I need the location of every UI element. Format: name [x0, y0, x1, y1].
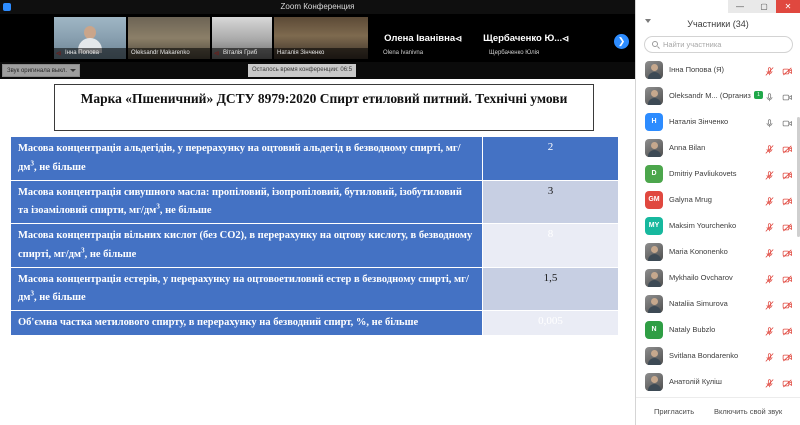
participant-name: Oleksandr M... (Организатор) — [669, 83, 751, 109]
specification-table: Масова концентрація альдегідів, у перера… — [10, 136, 619, 336]
window-title: Zoom Конференция — [281, 2, 355, 11]
participant-row[interactable]: Mykhailo Ovcharov — [636, 265, 800, 291]
original-audio-label: Звук оригинала выкл. — [7, 68, 67, 74]
mic-muted-icon[interactable] — [764, 272, 775, 283]
original-audio-button[interactable]: Звук оригинала выкл. — [2, 64, 80, 77]
table-cell-value: 2 — [483, 137, 619, 181]
participant-name: Наталія Зінченко — [669, 109, 728, 135]
avatar — [645, 61, 663, 79]
table-cell-parameter: Масова концентрація альдегідів, у перера… — [11, 137, 483, 181]
window-controls: — ▢ ✕ — [728, 0, 800, 13]
table-row: Масова концентрація альдегідів, у перера… — [11, 137, 619, 181]
participants-list[interactable]: Інна Попова (Я)Oleksandr M... (Организат… — [636, 57, 800, 395]
participant-row[interactable]: MYMaksim Yourchenko — [636, 213, 800, 239]
camera-icon[interactable] — [782, 116, 793, 127]
mic-muted-icon[interactable] — [764, 350, 775, 361]
avatar — [645, 373, 663, 391]
video-tile-label: Інна Попова — [54, 48, 126, 59]
chevron-down-icon — [70, 69, 76, 72]
invite-button[interactable]: Пригласить — [654, 404, 694, 420]
participant-row[interactable]: Svitlana Bondarenko — [636, 343, 800, 369]
participant-search[interactable] — [644, 36, 793, 53]
participant-name: Dmitriy Pavliukovets — [669, 161, 737, 187]
participant-name: Анатолій Кулiш — [669, 369, 722, 395]
video-tile-label: Щербаченко Юлія — [478, 48, 574, 59]
participant-name: Anna Bilan — [669, 135, 705, 161]
zoom-logo-icon — [3, 3, 11, 11]
next-page-icon[interactable]: ❯ — [614, 34, 629, 49]
table-row: Масова концентрація вільних кислот (без … — [11, 224, 619, 268]
participant-row[interactable]: GMGalyna Mrug — [636, 187, 800, 213]
camera-off-icon[interactable] — [782, 298, 793, 309]
mic-muted-icon[interactable] — [764, 194, 775, 205]
camera-off-icon[interactable] — [782, 376, 793, 387]
camera-icon[interactable] — [782, 90, 793, 101]
participant-row[interactable]: Oleksandr M... (Организатор)1 — [636, 83, 800, 109]
avatar — [645, 269, 663, 287]
participant-row[interactable]: Інна Попова (Я) — [636, 57, 800, 83]
slide-title: Марка «Пшеничний» ДСТУ 8979:2020 Спирт е… — [54, 84, 594, 131]
participant-name: Svitlana Bondarenko — [669, 343, 738, 369]
avatar — [645, 295, 663, 313]
video-tile-label: Віталія Гриб — [212, 48, 272, 59]
mic-muted-icon: ⏿ — [455, 33, 462, 44]
mic-muted-icon: ⏿ — [562, 33, 569, 44]
camera-off-icon[interactable] — [782, 168, 793, 179]
mic-icon[interactable] — [764, 116, 775, 127]
mic-muted-icon[interactable] — [764, 324, 775, 335]
table-cell-value: 3 — [483, 180, 619, 224]
video-tile-shcherbachenko[interactable]: Щербаченко Ю... ⏿ Щербаченко Юлія — [478, 17, 574, 59]
avatar — [645, 139, 663, 157]
participant-row[interactable]: Nataliia Simurova — [636, 291, 800, 317]
table-cell-value: 0,005 — [483, 311, 619, 336]
video-tile-label: Olena Ivanivna — [372, 48, 474, 59]
camera-off-icon[interactable] — [782, 272, 793, 283]
camera-off-icon[interactable] — [782, 194, 793, 205]
table-cell-parameter: Масова концентрація естерів, у перерахун… — [11, 267, 483, 311]
share-toolbar: Звук оригинала выкл. Осталось время конф… — [0, 62, 635, 79]
video-tile-display-name: Олена Іванівна — [384, 33, 455, 44]
avatar-initials: GM — [645, 191, 663, 209]
camera-off-icon[interactable] — [782, 64, 793, 75]
participant-name: Інна Попова (Я) — [669, 57, 724, 83]
table-row: Масова концентрація естерів, у перерахун… — [11, 267, 619, 311]
table-row: Масова концентрація сивушного масла: про… — [11, 180, 619, 224]
avatar-initials: D — [645, 165, 663, 183]
camera-off-icon[interactable] — [782, 220, 793, 231]
avatar — [645, 347, 663, 365]
camera-off-icon[interactable] — [782, 142, 793, 153]
participants-footer: Пригласить Включить свой звук — [636, 397, 800, 425]
avatar-initials: N — [645, 321, 663, 339]
camera-off-icon[interactable] — [782, 324, 793, 335]
meeting-timer: Осталось время конференции: 06:5 — [248, 64, 356, 77]
table-cell-parameter: Масова концентрація сивушного масла: про… — [11, 180, 483, 224]
shared-screen-content: Марка «Пшеничний» ДСТУ 8979:2020 Спирт е… — [0, 79, 635, 425]
mic-muted-icon[interactable] — [764, 298, 775, 309]
zoom-meeting-window: Zoom Конференция ⏿ Інна Попова Oleksandr… — [0, 0, 800, 425]
table-cell-parameter: Масова концентрація вільних кислот (без … — [11, 224, 483, 268]
participant-row[interactable]: Anna Bilan — [636, 135, 800, 161]
search-input[interactable] — [663, 37, 789, 52]
participant-name: Mykhailo Ovcharov — [669, 265, 733, 291]
camera-off-icon[interactable] — [782, 350, 793, 361]
participant-name: Maria Kononenko — [669, 239, 728, 265]
participant-row[interactable]: ННаталія Зінченко — [636, 109, 800, 135]
mic-muted-icon[interactable] — [764, 168, 775, 179]
participant-row[interactable]: Анатолій Кулiш — [636, 369, 800, 395]
host-badge-icon: 1 — [754, 91, 763, 99]
video-tile-inna-popova[interactable]: ⏿ Інна Попова — [54, 17, 126, 59]
participant-row[interactable]: NNataly Bubzlo — [636, 317, 800, 343]
unmute-button[interactable]: Включить свой звук — [714, 404, 782, 420]
video-tile-oleksandr-makarenko[interactable]: Oleksandr Makarenko — [128, 17, 210, 59]
avatar — [645, 87, 663, 105]
video-tile-olena-ivanivna[interactable]: Олена Іванівна ⏿ Olena Ivanivna — [372, 17, 474, 59]
mic-icon[interactable] — [764, 90, 775, 101]
video-tile-display-name: Щербаченко Ю... — [483, 33, 562, 44]
participants-header: Участники (34) — [636, 14, 800, 34]
video-tile-label: Наталія Зінченко — [274, 48, 368, 59]
table-cell-value: 8 — [483, 224, 619, 268]
video-tile-vitaliia-hryb[interactable]: ⏿ Віталія Гриб — [212, 17, 272, 59]
participant-name: Nataly Bubzlo — [669, 317, 715, 343]
mic-muted-icon[interactable] — [764, 246, 775, 257]
video-tile-label: Oleksandr Makarenko — [128, 48, 210, 59]
table-cell-parameter: Об'ємна частка метилового спирту, в пере… — [11, 311, 483, 336]
maximize-button[interactable]: ▢ — [752, 0, 776, 13]
zoom-title-bar: Zoom Конференция — [0, 0, 635, 14]
participants-panel: — ▢ ✕ Участники (34) Інна Попова (Я)Olek… — [635, 0, 800, 425]
avatar — [645, 243, 663, 261]
video-filmstrip: ⏿ Інна Попова Oleksandr Makarenko ⏿ Віта… — [0, 14, 635, 62]
avatar-initials: Н — [645, 113, 663, 131]
participant-row[interactable]: DDmitriy Pavliukovets — [636, 161, 800, 187]
participant-name: Maksim Yourchenko — [669, 213, 736, 239]
camera-off-icon[interactable] — [782, 246, 793, 257]
video-tile-nataliia-zinchenko[interactable]: Наталія Зінченко — [274, 17, 368, 59]
mic-muted-icon[interactable] — [764, 376, 775, 387]
search-icon — [652, 41, 658, 47]
participant-row[interactable]: Maria Kononenko — [636, 239, 800, 265]
table-row: Об'ємна частка метилового спирту, в пере… — [11, 311, 619, 336]
close-button[interactable]: ✕ — [776, 0, 800, 13]
participant-name: Galyna Mrug — [669, 187, 712, 213]
minimize-button[interactable]: — — [728, 0, 752, 13]
mic-muted-icon[interactable] — [764, 220, 775, 231]
mic-muted-icon[interactable] — [764, 142, 775, 153]
table-cell-value: 1,5 — [483, 267, 619, 311]
participant-name: Nataliia Simurova — [669, 291, 728, 317]
mic-muted-icon[interactable] — [764, 64, 775, 75]
avatar-initials: MY — [645, 217, 663, 235]
